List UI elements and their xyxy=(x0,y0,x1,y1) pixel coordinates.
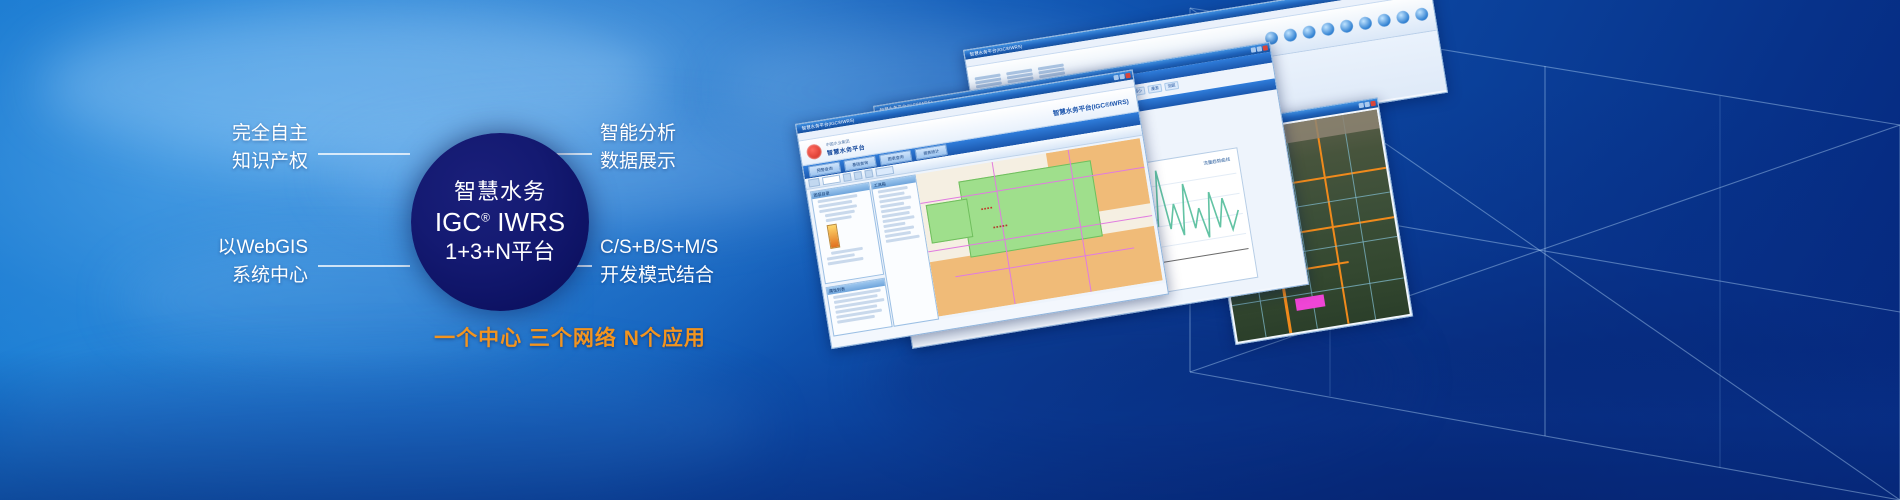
window-controls[interactable] xyxy=(1358,101,1376,109)
feature-top-left: 完全自主 知识产权 xyxy=(188,120,308,175)
light-wisp xyxy=(40,10,660,160)
legend-item[interactable]: 漫游 xyxy=(1147,84,1162,94)
feature-bottom-right: C/S+B/S+M/S 开发模式结合 xyxy=(600,234,718,289)
tagline: 一个中心 三个网络 N个应用 xyxy=(360,322,780,352)
hub-line-3: 1+3+N平台 xyxy=(445,239,555,265)
ribbon-button-icon[interactable] xyxy=(1283,27,1298,42)
feature-bottom-right-line1: C/S+B/S+M/S xyxy=(600,234,718,262)
ribbon-button-icon[interactable] xyxy=(1395,9,1410,24)
light-wisp xyxy=(330,120,850,230)
ribbon-button-icon[interactable] xyxy=(1358,15,1373,30)
feature-top-left-line2: 知识产权 xyxy=(188,148,308,176)
feature-bottom-left: 以WebGIS 系统中心 xyxy=(188,234,308,289)
feature-top-left-line1: 完全自主 xyxy=(188,120,308,148)
hub-line-1: 智慧水务 xyxy=(454,179,546,204)
connector-line-top-left xyxy=(318,153,410,155)
feature-top-right-line1: 智能分析 xyxy=(600,120,676,148)
feature-top-right-line2: 数据展示 xyxy=(600,148,676,176)
hub-iwrs-text: IWRS xyxy=(497,207,565,237)
hub-line-2: IGC® IWRS xyxy=(435,207,565,238)
connector-line-bottom-left xyxy=(318,265,410,267)
feature-bottom-right-line2: 开发模式结合 xyxy=(600,262,718,290)
screenshot-stack: 智慧水务平台(IGC®IWRS) xyxy=(795,50,1555,350)
ribbon-button-icon[interactable] xyxy=(1339,18,1354,33)
feature-bottom-left-line1: 以WebGIS xyxy=(188,234,308,262)
ribbon-button-icon[interactable] xyxy=(1302,24,1317,39)
header-platform-title: 智慧水务平台(IGC®IWRS) xyxy=(1052,95,1129,117)
feature-bottom-left-line2: 系统中心 xyxy=(188,262,308,290)
company-logo-icon xyxy=(806,143,823,160)
panel-attribute-list[interactable]: 属性列表 xyxy=(825,278,892,337)
ribbon-button-icon[interactable] xyxy=(1414,6,1429,21)
center-hub-circle: 智慧水务 IGC® IWRS 1+3+N平台 xyxy=(411,133,589,311)
close-icon xyxy=(1370,101,1376,107)
close-icon xyxy=(1125,73,1131,79)
legend-item[interactable]: 测距 xyxy=(1164,81,1179,91)
ribbon-button-icon[interactable] xyxy=(1320,21,1335,36)
floor-shadow xyxy=(0,350,1900,500)
map-selection-highlight xyxy=(1294,294,1325,311)
hub-igc-text: IGC xyxy=(435,207,481,237)
close-icon xyxy=(1262,45,1268,51)
banner-root: 完全自主 知识产权 以WebGIS 系统中心 智能分析 数据展示 C/S+B/S… xyxy=(0,0,1900,500)
registered-mark-icon: ® xyxy=(481,210,490,224)
ribbon-button-icon[interactable] xyxy=(1377,12,1392,27)
feature-top-right: 智能分析 数据展示 xyxy=(600,120,676,175)
